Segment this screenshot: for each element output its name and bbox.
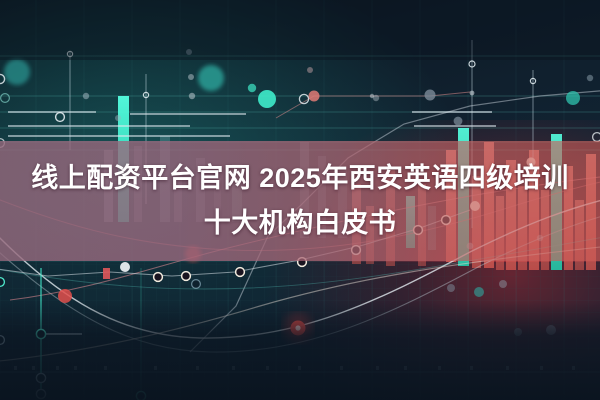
- top-vignette: [0, 0, 600, 60]
- banner-image: 线上配资平台官网 2025年西安英语四级培训十大机构白皮书: [0, 0, 600, 400]
- title-container: 线上配资平台官网 2025年西安英语四级培训十大机构白皮书: [0, 141, 600, 261]
- page-title: 线上配资平台官网 2025年西安英语四级培训十大机构白皮书: [20, 156, 580, 246]
- bottom-vignette: [0, 300, 600, 400]
